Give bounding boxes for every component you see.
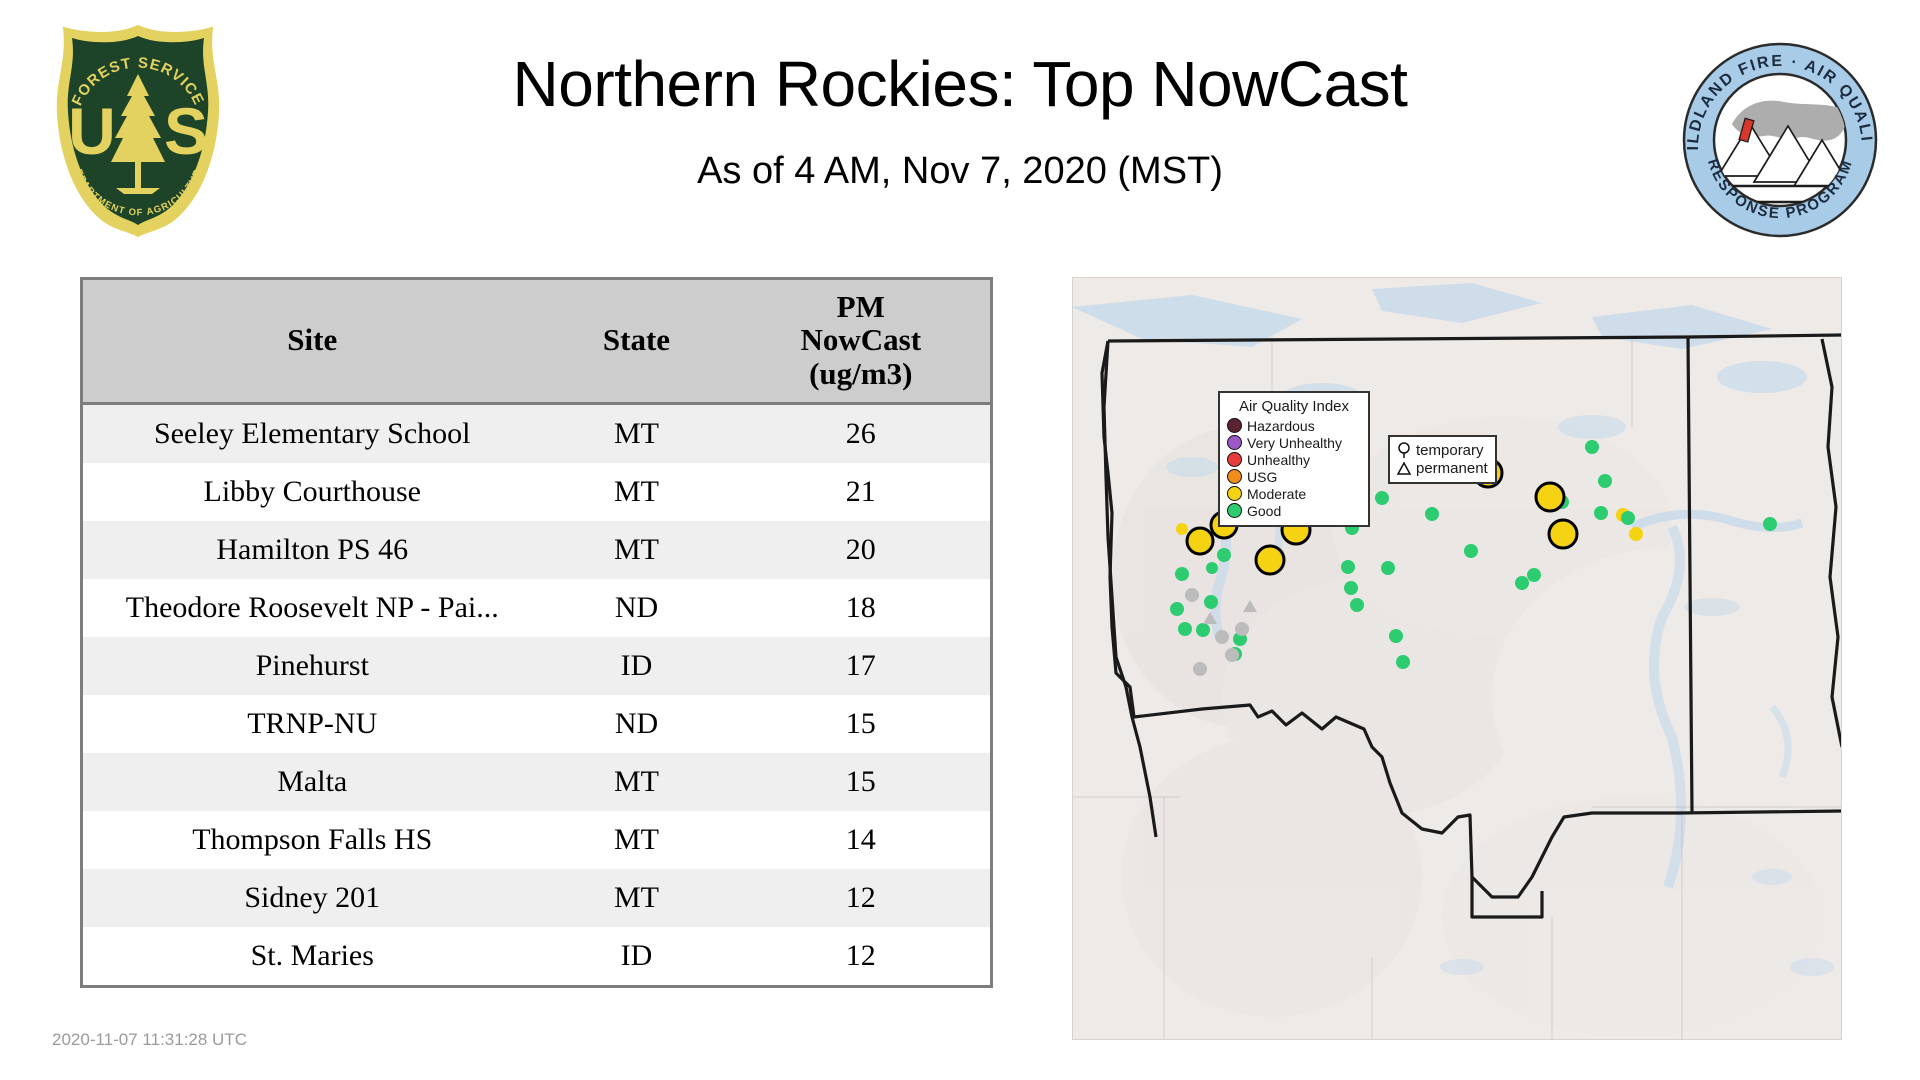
aqi-legend: Air Quality Index HazardousVery Unhealth…	[1218, 391, 1370, 527]
monitor-marker[interactable]	[1527, 568, 1541, 582]
state-cell: MT	[542, 463, 732, 521]
monitor-marker[interactable]	[1464, 544, 1478, 558]
pm-nowcast-cell: 26	[732, 404, 992, 464]
site-cell: Thompson Falls HS	[82, 811, 542, 869]
aqi-legend-swatch-icon	[1227, 503, 1242, 518]
monitor-marker[interactable]	[1425, 507, 1439, 521]
column-header-state[interactable]: State	[542, 279, 732, 404]
aqi-legend-swatch-icon	[1227, 486, 1242, 501]
state-cell: ID	[542, 927, 732, 987]
aqi-legend-title: Air Quality Index	[1227, 398, 1361, 415]
aqi-legend-rows: HazardousVery UnhealthyUnhealthyUSGModer…	[1227, 417, 1361, 519]
title-block: Northern Rockies: Top NowCast As of 4 AM…	[300, 48, 1620, 193]
aqi-legend-swatch-icon	[1227, 418, 1242, 433]
table-row[interactable]: Sidney 201MT12	[82, 869, 992, 927]
inactive-monitor-marker	[1235, 622, 1249, 636]
monitor-marker[interactable]	[1585, 440, 1599, 454]
column-header-pm-nowcast[interactable]: PM NowCast (ug/m3)	[732, 279, 992, 404]
table-header: Site State PM NowCast (ug/m3)	[82, 279, 992, 404]
aqi-legend-label: Moderate	[1247, 486, 1306, 502]
site-type-legend: temporary permanent	[1388, 435, 1497, 484]
pm-nowcast-cell: 17	[732, 637, 992, 695]
site-type-permanent-row: permanent	[1396, 459, 1488, 477]
aqi-legend-swatch-icon	[1227, 435, 1242, 450]
state-cell: MT	[542, 404, 732, 464]
monitor-marker[interactable]	[1375, 491, 1389, 505]
monitor-marker[interactable]	[1187, 528, 1213, 554]
monitor-marker[interactable]	[1594, 506, 1608, 520]
column-header-pm-line1: PM	[736, 290, 987, 323]
map-canvas[interactable]	[1072, 277, 1842, 1040]
usfs-letter-u: U	[68, 94, 116, 168]
monitor-marker[interactable]	[1396, 655, 1410, 669]
aqi-legend-row: Very Unhealthy	[1227, 434, 1361, 451]
inactive-monitor-marker	[1225, 648, 1239, 662]
column-header-site[interactable]: Site	[82, 279, 542, 404]
aqi-legend-label: Unhealthy	[1247, 452, 1310, 468]
page-title: Northern Rockies: Top NowCast	[300, 48, 1620, 122]
wfaqrp-circle-logo: WILDLAND FIRE · AIR QUALITY RESPONSE PRO…	[1680, 40, 1880, 240]
table-row[interactable]: Seeley Elementary SchoolMT26	[82, 404, 992, 464]
state-cell: MT	[542, 869, 732, 927]
usfs-shield-logo: FOREST SERVICE DEPARTMENT OF AGRICULTURE…	[52, 22, 224, 237]
aqi-legend-label: Good	[1247, 503, 1281, 519]
monitor-marker[interactable]	[1381, 561, 1395, 575]
header-band: FOREST SERVICE DEPARTMENT OF AGRICULTURE…	[0, 0, 1920, 260]
aqi-legend-label: USG	[1247, 469, 1277, 485]
table-row[interactable]: Hamilton PS 46MT20	[82, 521, 992, 579]
monitor-marker[interactable]	[1196, 623, 1210, 637]
aqi-legend-row: USG	[1227, 468, 1361, 485]
site-cell: Libby Courthouse	[82, 463, 542, 521]
site-cell: Theodore Roosevelt NP - Pai...	[82, 579, 542, 637]
aqi-legend-label: Very Unhealthy	[1247, 435, 1342, 451]
monitor-marker[interactable]	[1621, 511, 1635, 525]
pm-nowcast-cell: 12	[732, 927, 992, 987]
state-cell: ND	[542, 579, 732, 637]
aqi-legend-row: Good	[1227, 502, 1361, 519]
usfs-letter-s: S	[164, 94, 208, 168]
site-cell: Malta	[82, 753, 542, 811]
monitor-marker[interactable]	[1763, 517, 1777, 531]
table-row[interactable]: Libby CourthouseMT21	[82, 463, 992, 521]
monitor-marker[interactable]	[1515, 576, 1529, 590]
inactive-monitor-marker	[1185, 588, 1199, 602]
site-cell: Seeley Elementary School	[82, 404, 542, 464]
monitor-marker[interactable]	[1598, 474, 1612, 488]
monitor-marker[interactable]	[1206, 562, 1218, 574]
top-nowcast-table-container: Site State PM NowCast (ug/m3) Seeley Ele…	[80, 277, 990, 988]
column-header-pm-line3: (ug/m3)	[736, 357, 987, 390]
table-row[interactable]: MaltaMT15	[82, 753, 992, 811]
site-cell: Pinehurst	[82, 637, 542, 695]
site-cell: Sidney 201	[82, 869, 542, 927]
monitor-marker[interactable]	[1341, 560, 1355, 574]
pm-nowcast-cell: 12	[732, 869, 992, 927]
table-row[interactable]: TRNP-NUND15	[82, 695, 992, 753]
site-cell: Hamilton PS 46	[82, 521, 542, 579]
monitor-marker[interactable]	[1204, 595, 1218, 609]
footer-timestamp: 2020-11-07 11:31:28 UTC	[52, 1030, 247, 1050]
pm-nowcast-cell: 21	[732, 463, 992, 521]
site-cell: TRNP-NU	[82, 695, 542, 753]
permanent-triangle-icon	[1396, 461, 1412, 476]
pm-nowcast-cell: 14	[732, 811, 992, 869]
state-cell: ID	[542, 637, 732, 695]
site-cell: St. Maries	[82, 927, 542, 987]
monitor-marker[interactable]	[1389, 629, 1403, 643]
page-subtitle: As of 4 AM, Nov 7, 2020 (MST)	[300, 150, 1620, 193]
monitor-marker[interactable]	[1536, 483, 1564, 511]
monitor-marker[interactable]	[1256, 546, 1284, 574]
pm-nowcast-cell: 20	[732, 521, 992, 579]
table-row[interactable]: PinehurstID17	[82, 637, 992, 695]
table-row[interactable]: St. MariesID12	[82, 927, 992, 987]
aqi-legend-row: Moderate	[1227, 485, 1361, 502]
table-header-row: Site State PM NowCast (ug/m3)	[82, 279, 992, 404]
state-cell: ND	[542, 695, 732, 753]
site-type-temporary-row: temporary	[1396, 441, 1488, 459]
state-cell: MT	[542, 753, 732, 811]
inactive-monitor-marker	[1215, 630, 1229, 644]
site-type-permanent-label: permanent	[1416, 460, 1488, 477]
monitor-marker[interactable]	[1175, 567, 1189, 581]
inactive-monitor-marker	[1193, 662, 1207, 676]
pm-nowcast-cell: 15	[732, 695, 992, 753]
table-body: Seeley Elementary SchoolMT26Libby Courth…	[82, 404, 992, 987]
table-row[interactable]: Thompson Falls HSMT14	[82, 811, 992, 869]
table-row[interactable]: Theodore Roosevelt NP - Pai...ND18	[82, 579, 992, 637]
top-nowcast-table: Site State PM NowCast (ug/m3) Seeley Ele…	[80, 277, 993, 988]
air-quality-map[interactable]: Air Quality Index HazardousVery Unhealth…	[1072, 277, 1842, 1040]
monitor-marker[interactable]	[1176, 523, 1188, 535]
state-cell: MT	[542, 521, 732, 579]
monitor-marker[interactable]	[1217, 548, 1231, 562]
monitor-marker[interactable]	[1629, 527, 1643, 541]
site-type-temporary-label: temporary	[1416, 442, 1484, 459]
monitor-marker[interactable]	[1170, 602, 1184, 616]
monitor-marker[interactable]	[1344, 581, 1358, 595]
aqi-legend-swatch-icon	[1227, 469, 1242, 484]
pm-nowcast-cell: 15	[732, 753, 992, 811]
monitor-marker[interactable]	[1549, 520, 1577, 548]
pm-nowcast-cell: 18	[732, 579, 992, 637]
column-header-pm-line2: NowCast	[736, 323, 987, 356]
aqi-legend-row: Hazardous	[1227, 417, 1361, 434]
monitor-marker[interactable]	[1178, 622, 1192, 636]
state-cell: MT	[542, 811, 732, 869]
temporary-circle-icon	[1396, 442, 1412, 459]
aqi-legend-swatch-icon	[1227, 452, 1242, 467]
aqi-legend-row: Unhealthy	[1227, 451, 1361, 468]
monitor-marker[interactable]	[1350, 598, 1364, 612]
aqi-legend-label: Hazardous	[1247, 418, 1315, 434]
